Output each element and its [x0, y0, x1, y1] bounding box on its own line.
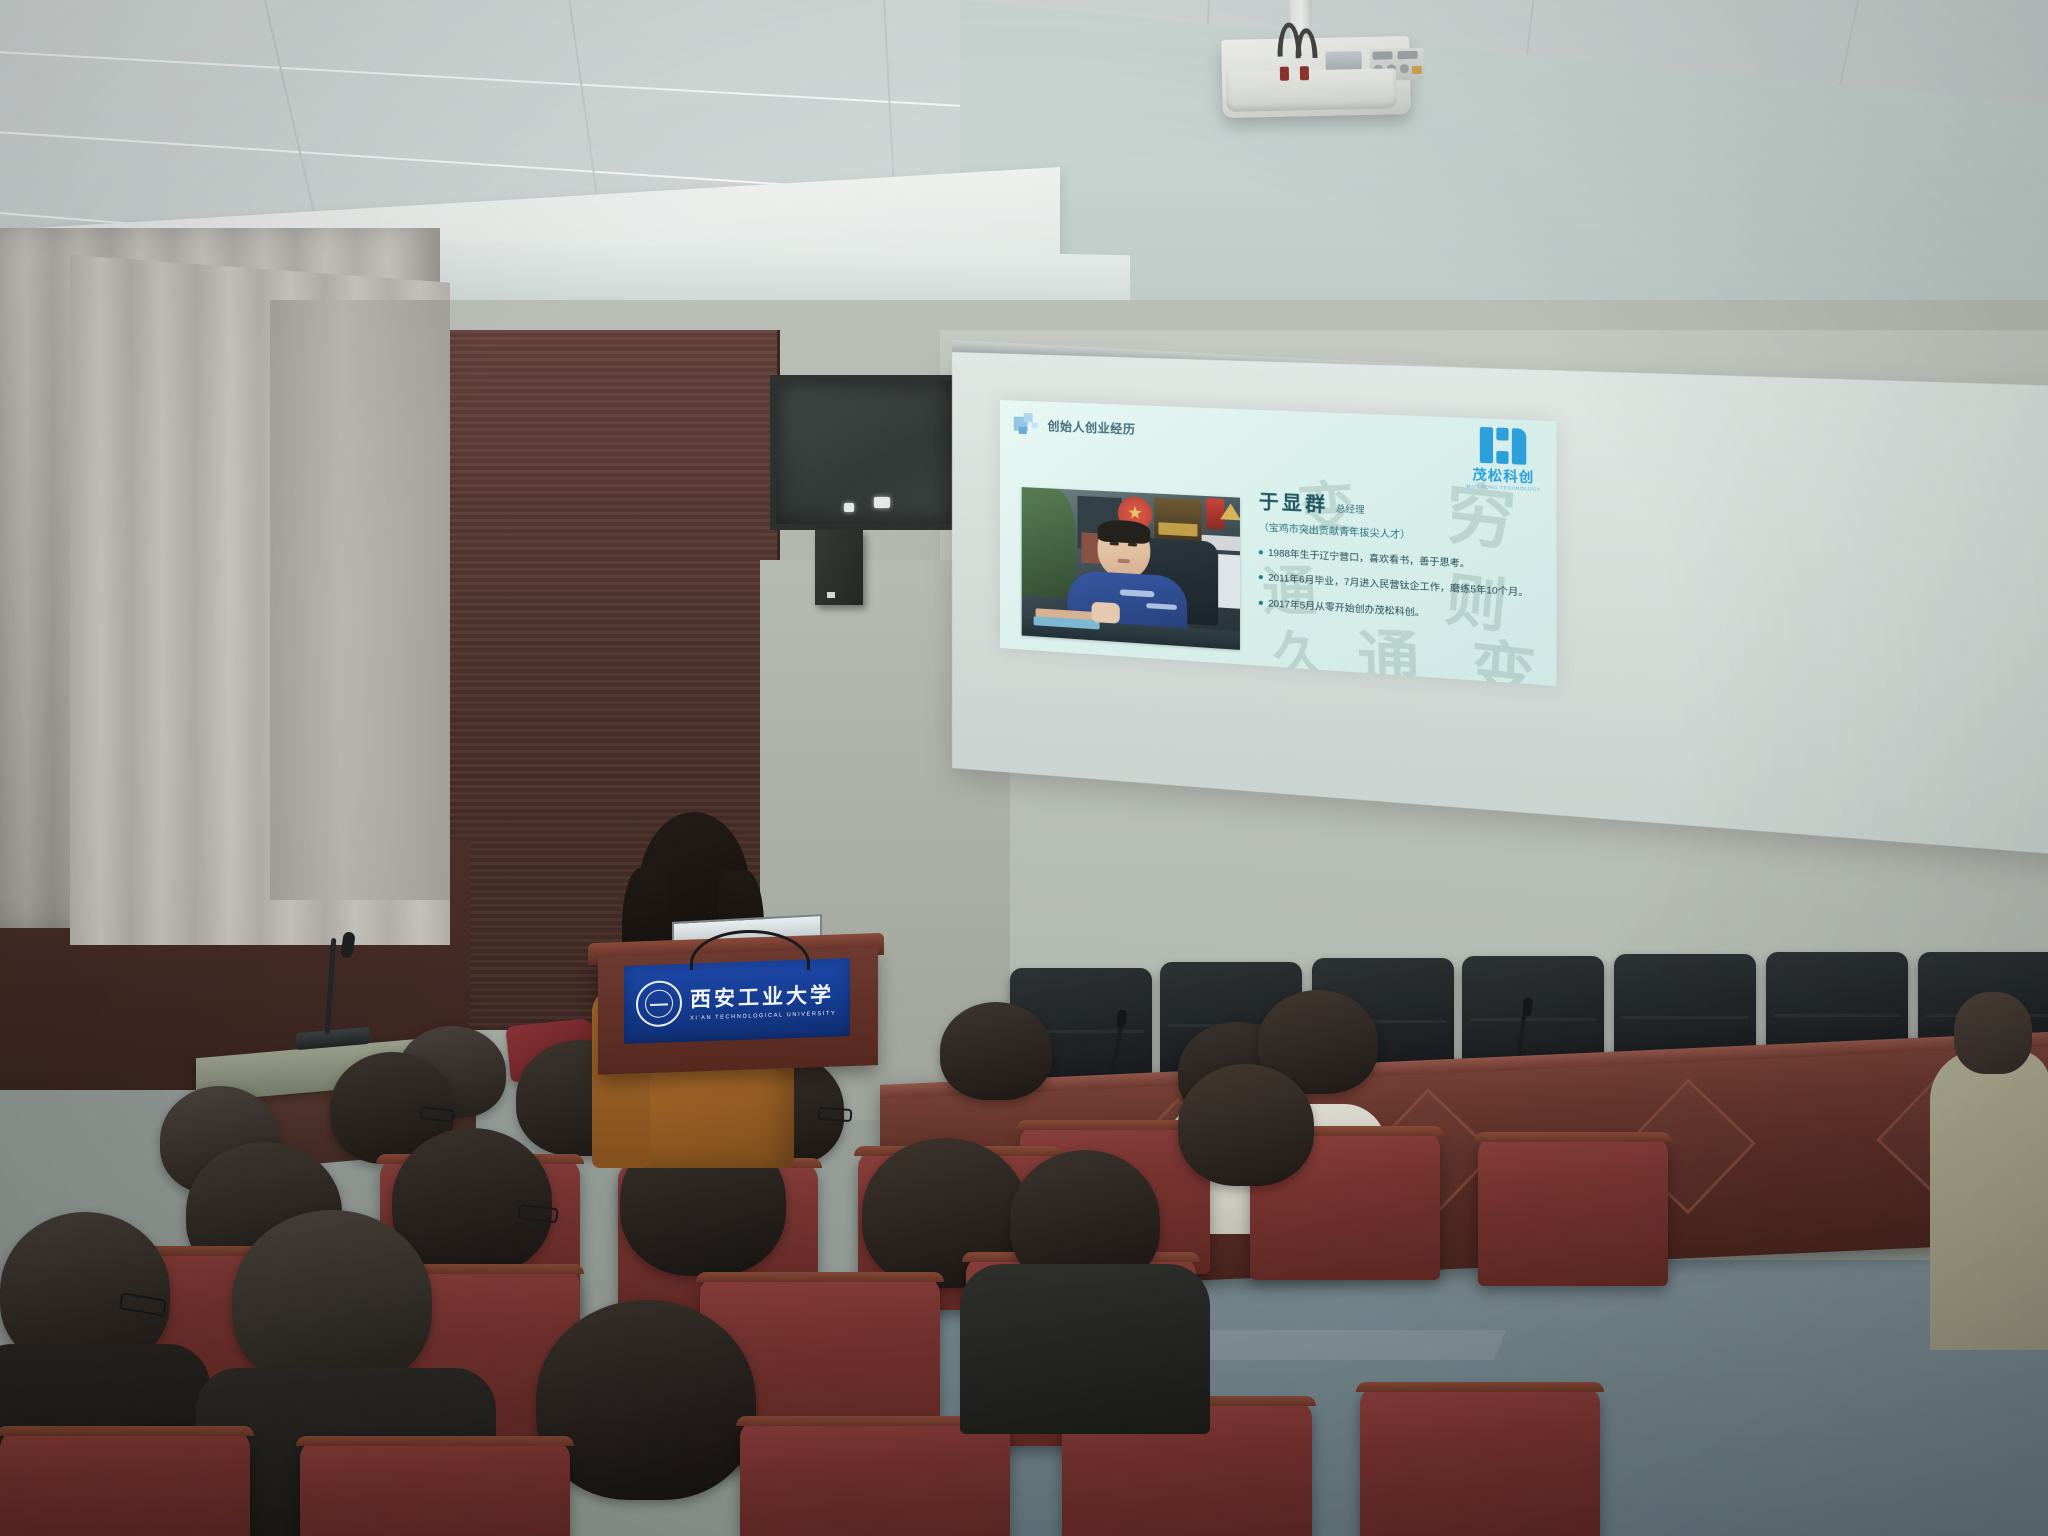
speaker-led-icon — [827, 592, 835, 598]
founder-role: 总经理 — [1336, 503, 1365, 515]
projector-lens — [1226, 68, 1397, 112]
window-curtain-right — [270, 300, 450, 900]
founder-photo — [1022, 487, 1240, 650]
attendee-head — [1954, 992, 2032, 1074]
projected-slide: 变 穷 通 则 通 变 久 创始人创业经历 — [1000, 400, 1556, 686]
university-seal-icon — [636, 980, 682, 1028]
auditorium-seat[interactable] — [1360, 1386, 1600, 1536]
bullet-dot-icon — [1259, 601, 1263, 605]
auditorium-seat[interactable] — [1478, 1136, 1668, 1286]
ceiling-projector — [1221, 36, 1411, 118]
attendee-glasses-icon — [818, 1107, 853, 1122]
slide-section-title: 创始人创业经历 — [1048, 416, 1136, 437]
dark-glass-window — [770, 375, 960, 530]
university-name-cn: 西安工业大学 — [690, 979, 836, 1014]
company-logo-mark-icon — [1480, 427, 1526, 465]
lecture-hall-photo: 变 穷 通 则 通 变 久 创始人创业经历 — [0, 0, 2048, 1536]
slide-header: 创始人创业经历 — [1014, 413, 1136, 440]
bullet-text: 2017年5月从零开始创办茂松科创。 — [1268, 597, 1425, 621]
attendee-body — [960, 1264, 1210, 1434]
bullet-dot-icon — [1259, 575, 1263, 579]
company-logo: 茂松科创 MAO SONG TECHNOLOGY — [1466, 426, 1541, 492]
bullet-item: 2017年5月从零开始创办茂松科创。 — [1259, 596, 1538, 627]
attendee-head — [940, 1002, 1052, 1100]
wall-speaker — [815, 530, 863, 605]
founder-bullet-list: 1988年生于辽宁营口，喜欢看书，善于思考。 2011年6月毕业，7月进入民营钛… — [1259, 546, 1538, 628]
bullet-text: 2011年6月毕业，7月进入民营钛企工作，磨练5年10个月。 — [1268, 572, 1528, 601]
slide-decor-squares-icon — [1014, 413, 1040, 436]
founder-name: 于显群 — [1259, 486, 1329, 517]
slide-body: 于显群总经理 （宝鸡市突出贡献青年拔尖人才） 1988年生于辽宁营口，喜欢看书，… — [1259, 486, 1538, 639]
bullet-item: 1988年生于辽宁营口，喜欢看书，善于思考。 — [1259, 546, 1538, 575]
bullet-item: 2011年6月毕业，7月进入民营钛企工作，磨练5年10个月。 — [1259, 571, 1538, 601]
bullet-dot-icon — [1259, 550, 1263, 554]
auditorium-seat[interactable] — [300, 1440, 570, 1536]
auditorium-seat[interactable] — [0, 1430, 250, 1536]
podium-nameplate: 西安工业大学 XI'AN TECHNOLOGICAL UNIVERSITY — [624, 958, 850, 1044]
attendee-head — [1178, 1064, 1314, 1186]
attendee-head — [232, 1210, 432, 1390]
attendee-right — [1930, 1050, 2048, 1350]
bullet-text: 1988年生于辽宁营口，喜欢看书，善于思考。 — [1268, 547, 1470, 572]
auditorium-seat[interactable] — [740, 1420, 1010, 1536]
